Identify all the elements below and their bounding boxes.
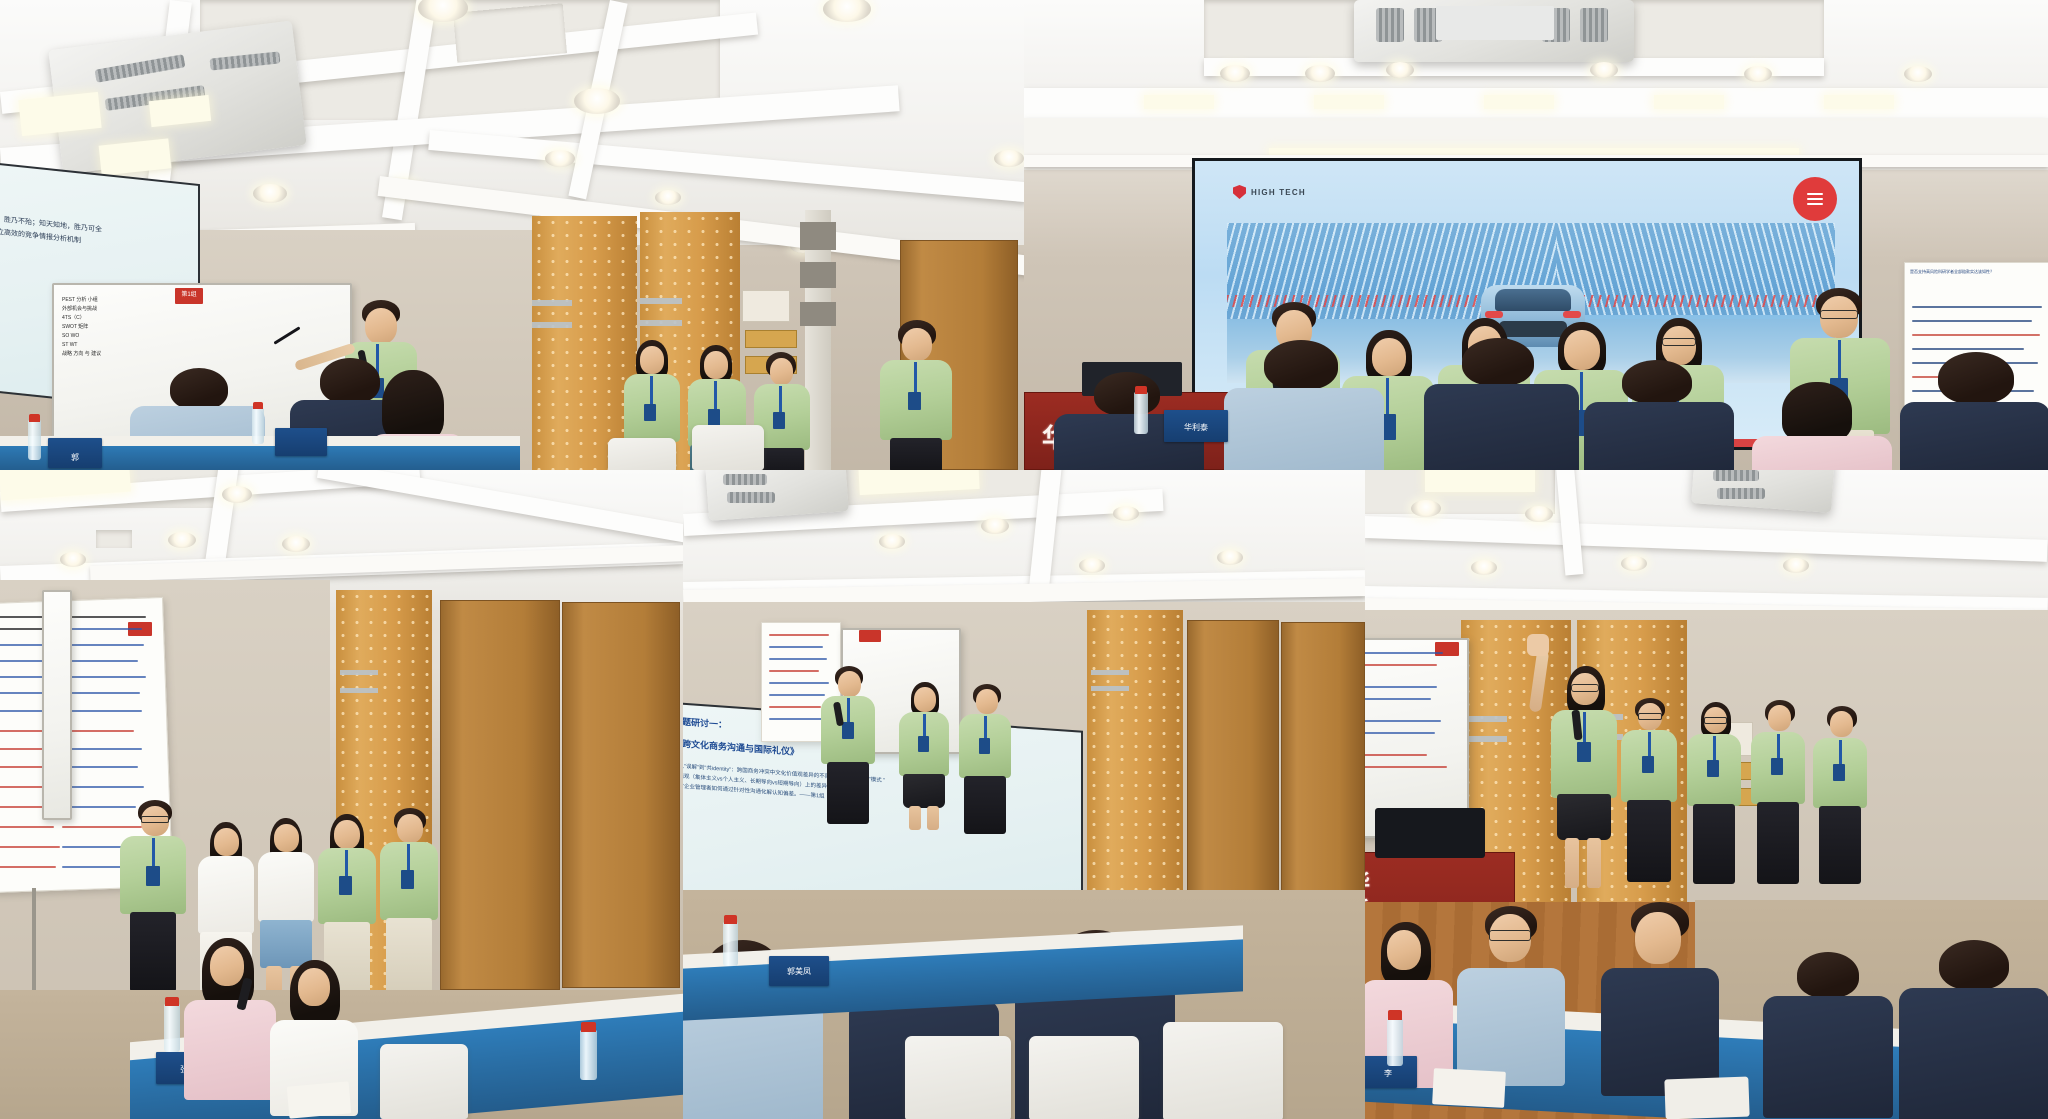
team-member [1687, 702, 1745, 888]
ceiling-strip-light [1425, 470, 1535, 492]
ceiling-downlight [655, 190, 681, 205]
team-member-top [198, 856, 254, 934]
team-member-head [770, 358, 793, 385]
presenter-lanyard [1583, 712, 1586, 742]
ceiling-downlight [1305, 65, 1335, 82]
team-member-lanyard [714, 381, 717, 411]
team-member-lanyard [923, 714, 926, 738]
team-member-legs [927, 806, 939, 830]
wall-accent-stripe [1091, 670, 1129, 675]
ac-vent [1580, 8, 1608, 42]
ceiling-strip-light [1824, 95, 1894, 109]
team-member-badge [146, 866, 160, 886]
eyeglasses-icon [1638, 713, 1662, 720]
ac-vent [1713, 470, 1759, 481]
team-member-lanyard [914, 362, 917, 392]
team-member-lanyard [152, 838, 155, 868]
ceiling-downlight [1217, 550, 1243, 565]
team-member-head [704, 351, 728, 379]
wall-accent-stripe [640, 320, 682, 326]
audience-member [1752, 382, 1892, 470]
wall-accent-stripe [532, 322, 572, 328]
room-door[interactable] [1281, 622, 1365, 910]
chair [380, 1044, 468, 1119]
panel-bottom-right: 华侨大学 [1365, 470, 2048, 1119]
wall-accent-stripe [1465, 736, 1507, 742]
team-member-head [902, 328, 932, 361]
judge-head [1387, 930, 1421, 970]
team-member-badge [708, 409, 720, 426]
flipchart-line [1912, 334, 2040, 336]
team-member-top [258, 852, 314, 922]
audience-hair [1797, 952, 1859, 998]
ceiling-downlight [1113, 506, 1139, 521]
team-member-lanyard [984, 716, 987, 740]
audience-member [1899, 940, 2048, 1119]
ceiling-strip-light [1654, 95, 1724, 109]
team-member-trousers [386, 918, 432, 996]
presenter-legs [1587, 838, 1601, 888]
team-member-head [1768, 705, 1791, 731]
ceiling-downlight [1220, 65, 1250, 82]
bottle-cap-icon [1135, 386, 1147, 394]
team-member-head [914, 687, 936, 712]
team-member [378, 808, 442, 1014]
bottle-cap-icon [165, 997, 179, 1006]
flipchart-line [1912, 320, 2032, 322]
shield-mark-icon [1233, 185, 1246, 199]
team-member-trousers [1693, 804, 1735, 884]
presenter-lanyard [1386, 378, 1389, 414]
judge-head [210, 946, 244, 986]
team-member-badge [1707, 760, 1719, 777]
eyeglasses-icon [1662, 338, 1696, 346]
chair [692, 425, 764, 470]
notebook [1432, 1068, 1506, 1108]
audience-shirt [1424, 384, 1579, 470]
ceiling-downlight [879, 534, 905, 549]
led-screen-logo: HIGH TECH [1233, 185, 1306, 199]
car-taillight [1563, 311, 1581, 318]
team-member-head [397, 814, 423, 843]
ceiling-access-hatch [453, 3, 567, 62]
car-taillight [1485, 311, 1503, 318]
ceiling-downlight [1471, 560, 1497, 575]
judge-head [298, 968, 330, 1006]
judge-shirt [1601, 968, 1719, 1096]
team-member-trousers [890, 438, 942, 470]
wall-accent-stripe [340, 670, 378, 675]
team-member-trousers [130, 912, 176, 992]
panel-top-right: HIGH TECH 生命可贵，严谨目标，我共鸣！ [1024, 0, 2048, 470]
audience-hair [1462, 338, 1534, 386]
water-bottle [252, 408, 264, 444]
flipchart-line [1912, 306, 2042, 308]
photo-collage: 己，胜乃不殆；知天知地，胜乃可全 建立高效的竞争情报分析机制 并 第1组 PES… [0, 0, 2048, 1119]
judge-top [184, 1000, 276, 1100]
team-member-badge [1642, 756, 1654, 773]
seated-judge [184, 938, 276, 1108]
ceiling-downlight [981, 518, 1009, 534]
team-member-lanyard [1777, 734, 1780, 760]
wall-accent-stripe [532, 300, 572, 306]
presenter-head [838, 671, 861, 697]
team-member-lanyard [1713, 736, 1716, 762]
team-member-head [214, 828, 239, 856]
chair [1163, 1022, 1283, 1119]
team-member-badge [339, 876, 352, 895]
audience-hair [1094, 372, 1160, 416]
ceiling-downlight [1079, 558, 1105, 573]
panel-top-left: 己，胜乃不殆；知天知地，胜乃可全 建立高效的竞争情报分析机制 并 第1组 PES… [0, 0, 1024, 470]
audience-hair [1782, 382, 1852, 442]
ceiling-downlight [282, 536, 310, 552]
team-member [880, 320, 960, 470]
ceiling-downlight [1904, 66, 1932, 82]
bottle-cap-icon [581, 1022, 596, 1032]
team-member-skirt [903, 774, 945, 808]
team-member-head [976, 689, 998, 714]
whiteboard-notes [1365, 648, 1461, 798]
wall-accent-stripe [640, 298, 682, 304]
wall-electrical-box [742, 290, 790, 322]
water-bottle [723, 922, 738, 966]
ac-vent [1376, 8, 1404, 42]
wall-sign-plate [745, 330, 797, 348]
team-member-trousers [1819, 806, 1861, 884]
eyeglasses-icon [1820, 310, 1858, 319]
notebook [287, 1081, 352, 1118]
team-member [1813, 706, 1871, 888]
eyeglasses-icon [141, 816, 169, 823]
presenter-lanyard [1838, 340, 1841, 378]
ceiling-strip-light [1144, 95, 1214, 109]
ceiling-downlight [574, 88, 620, 114]
room-door[interactable] [1187, 620, 1279, 910]
ceiling-downlight [545, 150, 575, 167]
team-member [120, 800, 190, 1010]
ceiling-downlight [994, 150, 1024, 167]
bottle-cap-icon [724, 915, 737, 924]
team-member-lanyard [650, 376, 653, 406]
name-placard-text: 郭 [50, 452, 100, 463]
team-member-head [640, 346, 664, 374]
chair [905, 1036, 1011, 1119]
ceiling-downlight [222, 486, 252, 503]
team-member [1751, 700, 1809, 888]
ceiling-downlight [1525, 506, 1553, 522]
ceiling-strip-light [1484, 95, 1554, 109]
water-bottle [164, 1004, 180, 1052]
team-member-head [1830, 711, 1853, 737]
water-bottle [580, 1030, 597, 1080]
water-bottle [1387, 1018, 1403, 1066]
presenter-badge [1577, 742, 1591, 762]
audience-shirt [1763, 996, 1893, 1118]
judge-shirt [1457, 968, 1565, 1086]
room-door[interactable] [562, 602, 680, 988]
team-member-lanyard [407, 844, 410, 872]
led-logo-text: HIGH TECH [1251, 188, 1306, 197]
team-member-head [274, 824, 299, 852]
team-member-badge [979, 738, 990, 754]
team-member-lanyard [1648, 732, 1651, 758]
pillar-bracket [800, 302, 836, 326]
tablet-device[interactable] [1664, 1077, 1749, 1119]
flipchart-line [1912, 348, 2024, 350]
name-placard-text: 华利泰 [1166, 422, 1226, 433]
team-member-badge [918, 736, 929, 752]
ceiling-downlight [1590, 62, 1618, 78]
water-bottle [28, 420, 41, 460]
pillar-bracket [800, 262, 836, 288]
bottle-cap-icon [1388, 1010, 1402, 1020]
ceiling-downlight [1621, 556, 1647, 571]
ac-center-grille [1436, 6, 1554, 40]
panel-bottom-middle: 主题研讨一： 《跨文化商务沟通与国际礼仪》 《从"误解"到"共identity"… [683, 470, 1365, 1119]
whiteboard-group-tag [859, 630, 881, 642]
podium-monitor [1375, 808, 1485, 858]
audience-shirt [1900, 402, 2048, 470]
team-member-trousers [1627, 800, 1671, 882]
whiteboard [42, 590, 72, 820]
eyeglasses-icon [1571, 684, 1599, 692]
ac-vent [727, 492, 775, 503]
audience-member [1224, 340, 1384, 470]
panel-bottom-left: 张 [0, 470, 683, 1119]
ceiling-downlight [1744, 66, 1772, 82]
ceiling-downlight [168, 532, 196, 548]
presenter-lanyard [847, 698, 850, 724]
chair [1029, 1036, 1139, 1119]
team-member-head [334, 820, 360, 849]
ceiling-downlight [1386, 62, 1414, 78]
audience-member [1584, 360, 1734, 470]
team-member-badge [1833, 764, 1845, 781]
team-presenter [821, 666, 879, 826]
team-member-legs [909, 806, 921, 830]
whiteboard-notes: PEST 分析 小组 外部机会与挑战 4TS（C） SWOT 矩阵 SO WO … [62, 296, 262, 359]
eyeglasses-icon [1704, 717, 1727, 724]
ceiling-vent [96, 530, 132, 548]
presenter-legs [1565, 838, 1579, 888]
judge-head [1635, 912, 1681, 964]
wall-accent-stripe [1091, 686, 1129, 691]
audience-hair [1938, 352, 2014, 404]
name-placard-text: 郭美凤 [771, 966, 827, 977]
eyeglasses-icon [1489, 930, 1531, 941]
female-presenter [1551, 666, 1623, 896]
wall-accent-stripe [1465, 716, 1507, 722]
audience-hair [382, 370, 444, 442]
audience-hair [1264, 340, 1338, 390]
team-member [1621, 698, 1681, 888]
team-member [899, 682, 953, 832]
ceiling-downlight [253, 184, 287, 203]
team-member-lanyard [345, 850, 348, 878]
ceiling-downlight [1783, 558, 1809, 573]
audience-shirt [1224, 388, 1384, 470]
chair [608, 438, 676, 470]
audience-member [1900, 352, 2048, 470]
team-member [959, 684, 1015, 834]
presenter-skirt [1557, 794, 1611, 840]
car-window [1495, 289, 1571, 311]
ac-vent [723, 474, 767, 485]
presenter-hand [1527, 634, 1549, 656]
ceiling-downlight [60, 552, 86, 567]
audience-member [1424, 338, 1579, 470]
team-member-badge [908, 392, 921, 410]
bottle-cap-icon [29, 414, 40, 422]
hamburger-menu-icon[interactable] [1793, 177, 1837, 221]
team-member-badge [644, 404, 656, 421]
presenter-trousers [827, 762, 869, 824]
name-placard-text: 李 [1365, 1068, 1415, 1079]
audience-shirt [1584, 402, 1734, 470]
team-member-badge [1771, 758, 1783, 775]
ceiling-downlight [1411, 500, 1441, 517]
water-bottle [1134, 392, 1148, 434]
audience-hair [1622, 360, 1692, 404]
room-door[interactable] [440, 600, 560, 990]
audience-member [1763, 952, 1893, 1118]
audience-hair [170, 368, 228, 410]
team-member-trousers [964, 776, 1006, 834]
presenter-head [365, 308, 397, 344]
team-member-badge [773, 412, 785, 429]
presenter-lanyard [1580, 372, 1583, 410]
name-placard [275, 428, 327, 456]
wood-wall-column [1087, 610, 1183, 910]
ac-vent [1717, 488, 1765, 499]
team-member-trousers [760, 448, 804, 470]
wall-accent-stripe [340, 688, 378, 693]
ceiling-strip-light [1314, 95, 1384, 109]
team-member-lanyard [779, 386, 782, 414]
pillar-bracket [800, 222, 836, 250]
bottle-cap-icon [253, 402, 263, 409]
team-member-trousers [1757, 802, 1799, 884]
audience-shirt [1899, 988, 2048, 1119]
presenter-badge [842, 722, 854, 739]
audience-shirt [1752, 436, 1892, 470]
team-member-badge [401, 870, 414, 889]
team-member-lanyard [1839, 740, 1842, 766]
audience-hair [1939, 940, 2009, 990]
